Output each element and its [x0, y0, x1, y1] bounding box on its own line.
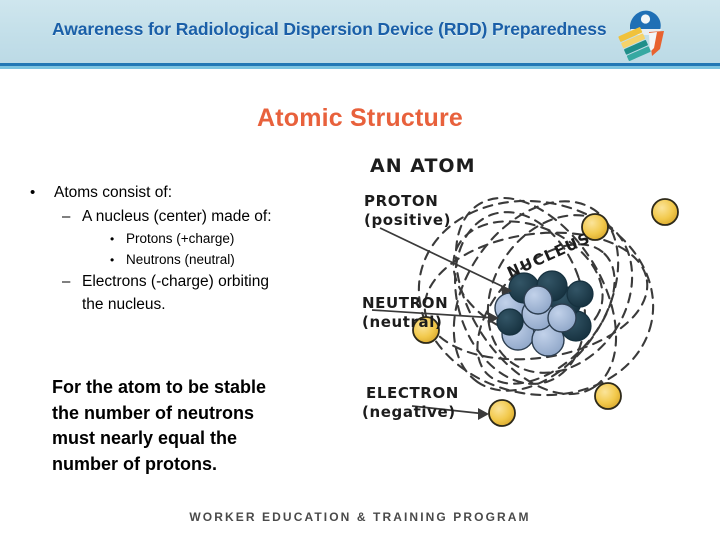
electron-label-line1: ELECTRON: [366, 384, 459, 402]
neutron-label-line1: NEUTRON: [362, 294, 448, 312]
header-title: Awareness for Radiological Dispersion De…: [52, 19, 607, 40]
bullet-text: Electrons (-charge) orbiting: [82, 271, 375, 292]
list-item: • Protons (+charge): [30, 229, 375, 249]
bullet-marker: –: [62, 206, 82, 227]
bullet-text: Neutrons (neutral): [126, 250, 375, 270]
nucleus-cluster: [495, 271, 593, 356]
worker-training-logo-icon: [616, 4, 678, 62]
bullet-marker: •: [110, 250, 126, 270]
bullet-text: Atoms consist of:: [54, 182, 375, 203]
diagram-heading: AN ATOM: [370, 155, 475, 177]
statement-line: For the atom to be stable: [52, 375, 352, 401]
bullet-text: Protons (+charge): [126, 229, 375, 249]
list-item: – A nucleus (center) made of:: [30, 206, 375, 227]
statement-line: number of protons.: [52, 452, 352, 478]
proton-label-line2: (positive): [364, 211, 451, 229]
electron-label-line2: (negative): [362, 403, 456, 421]
page-title: Atomic Structure: [0, 104, 720, 133]
statement-line: must nearly equal the: [52, 426, 352, 452]
bullet-marker: •: [110, 229, 126, 249]
list-item: – Electrons (-charge) orbiting: [30, 271, 375, 292]
header-divider-lower: [0, 66, 720, 69]
list-item: • Neutrons (neutral): [30, 250, 375, 270]
atom-diagram: AN ATOM PROTON (positive) NEUTRON (neutr…: [360, 148, 720, 448]
bullet-marker: •: [30, 182, 54, 203]
list-item: • Atoms consist of:: [30, 182, 375, 203]
bullet-list: • Atoms consist of: – A nucleus (center)…: [30, 182, 375, 317]
stability-statement: For the atom to be stable the number of …: [52, 375, 352, 477]
statement-line: the number of neutrons: [52, 401, 352, 427]
proton-label-line1: PROTON: [364, 192, 438, 210]
bullet-text: A nucleus (center) made of:: [82, 206, 375, 227]
list-item-continuation: the nucleus.: [30, 294, 375, 315]
header-banner: Awareness for Radiological Dispersion De…: [0, 0, 720, 63]
footer-text: WORKER EDUCATION & TRAINING PROGRAM: [0, 510, 720, 524]
neutron-label-line2: (neutral): [362, 313, 442, 331]
bullet-text: the nucleus.: [82, 294, 375, 315]
bullet-marker: –: [62, 271, 82, 292]
